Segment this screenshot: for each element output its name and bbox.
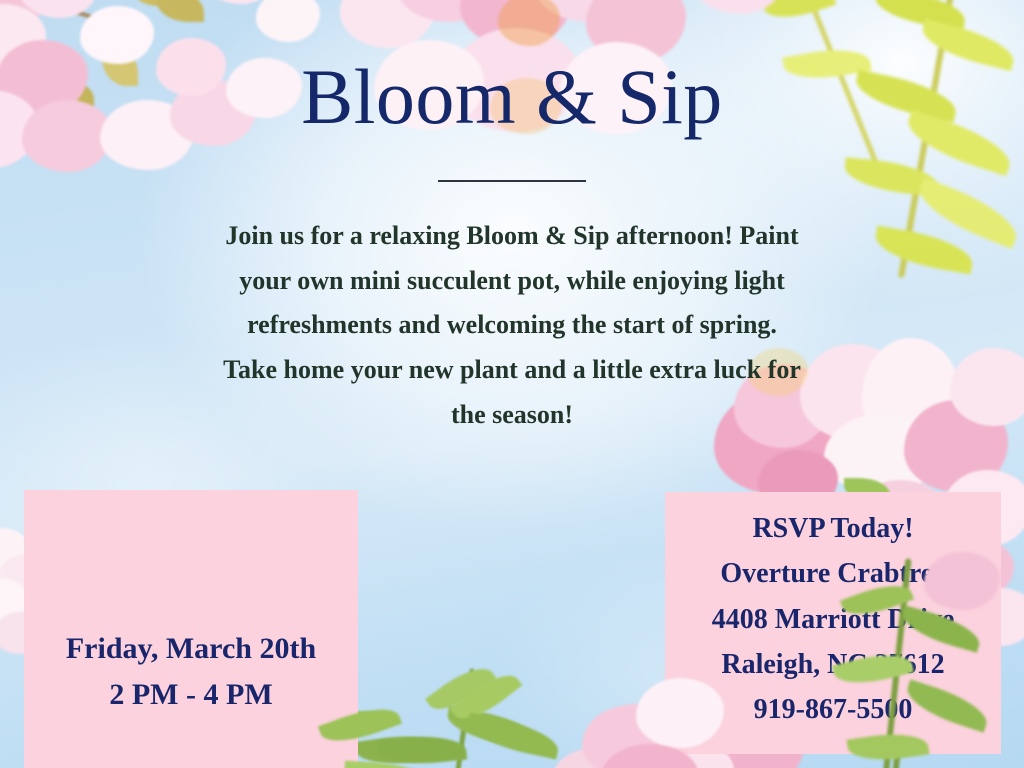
body-paragraph: Join us for a relaxing Bloom & Sip after… — [222, 214, 802, 438]
title-divider — [438, 180, 586, 182]
page-title: Bloom & Sip — [0, 56, 1024, 139]
flyer-content: Bloom & Sip Join us for a relaxing Bloom… — [0, 0, 1024, 768]
flyer-canvas: Bloom & Sip Join us for a relaxing Bloom… — [0, 0, 1024, 768]
